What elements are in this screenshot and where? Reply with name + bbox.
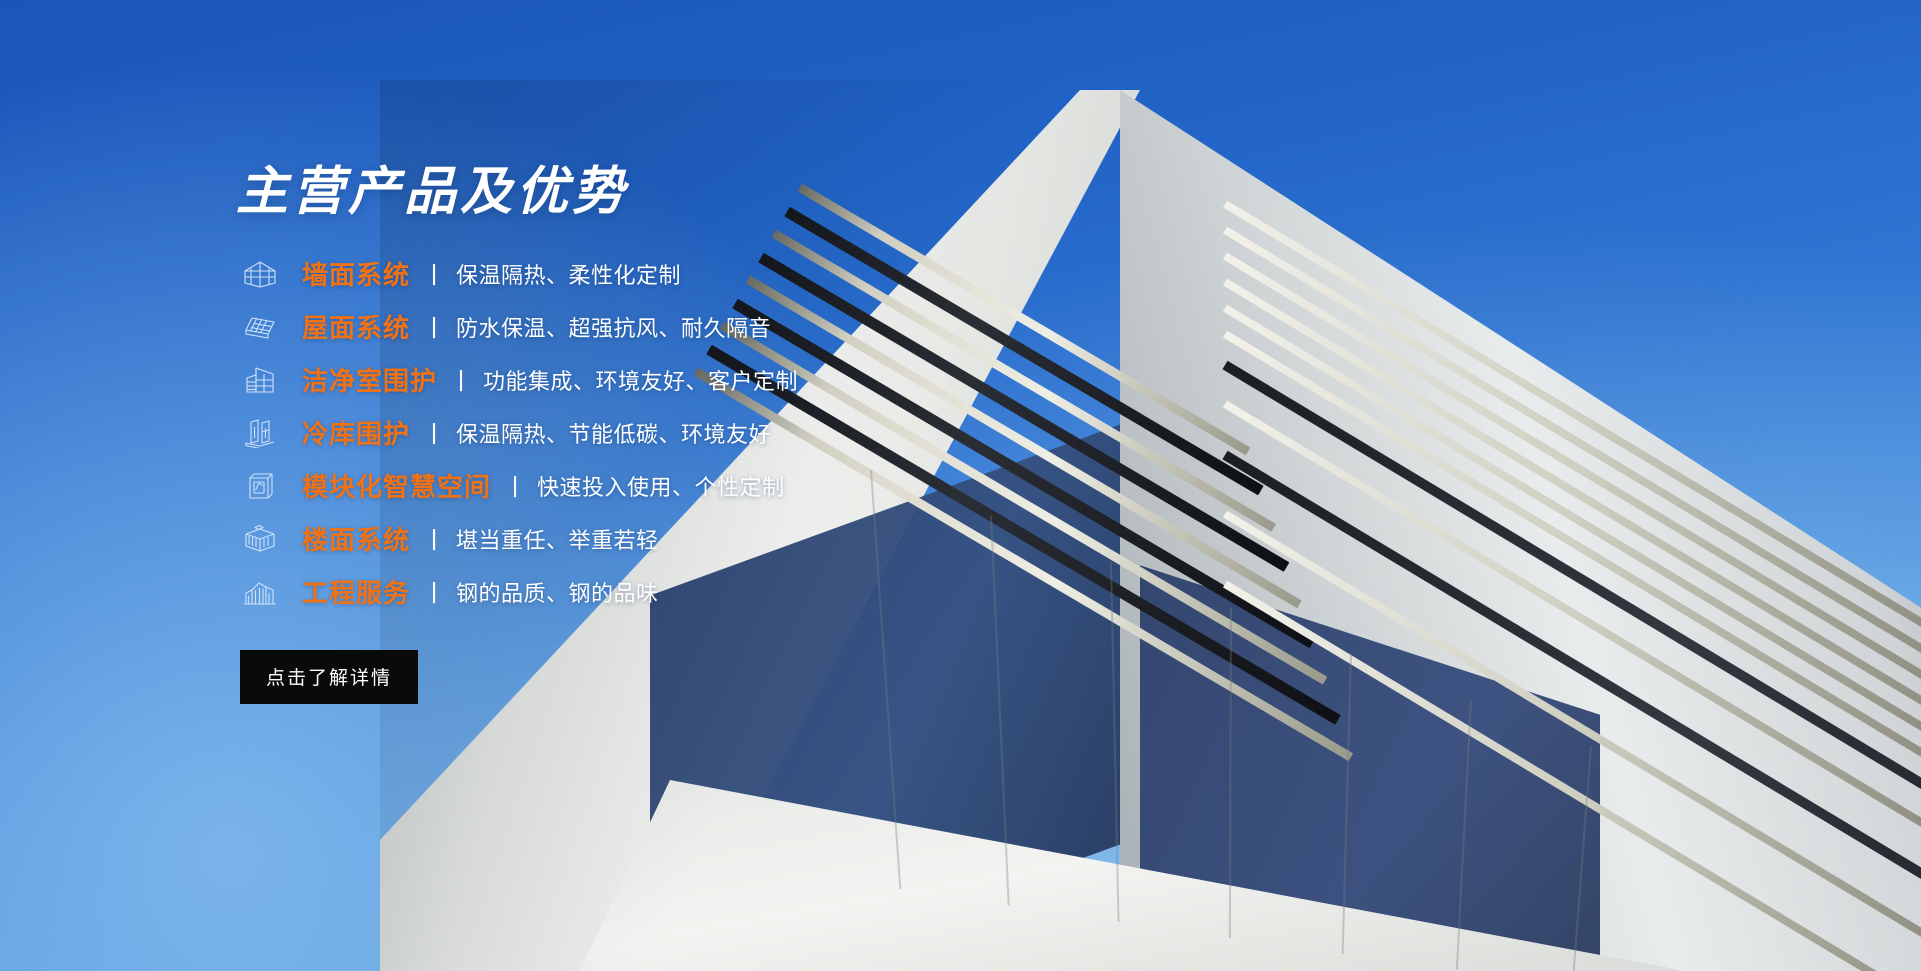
- product-row[interactable]: 模块化智慧空间丨快速投入使用、个性定制: [240, 459, 1016, 512]
- building-right-facade: [1080, 80, 1921, 971]
- product-description: 保温隔热、柔性化定制: [456, 258, 681, 290]
- modular-space-icon: [240, 469, 280, 503]
- product-description: 保温隔热、节能低碳、环境友好: [456, 417, 771, 449]
- product-name: 楼面系统: [302, 520, 410, 557]
- product-name: 冷库围护: [302, 414, 410, 451]
- coldstorage-icon: [240, 416, 280, 450]
- product-row[interactable]: 楼面系统丨堪当重任、举重若轻: [240, 512, 1016, 565]
- page-title: 主营产品及优势: [236, 164, 1016, 221]
- floor-system-icon: [240, 522, 280, 556]
- row-separator: 丨: [425, 258, 443, 290]
- cleanroom-icon: [240, 363, 280, 397]
- roof-system-icon: [240, 310, 280, 344]
- product-name: 屋面系统: [302, 308, 410, 345]
- row-separator: 丨: [425, 523, 443, 555]
- product-description: 功能集成、环境友好、客户定制: [483, 364, 798, 396]
- building-base-plinth: [580, 780, 1680, 971]
- product-list: 墙面系统丨保温隔热、柔性化定制屋面系统丨防水保温、超强抗风、耐久隔音洁净室围护丨…: [240, 247, 1016, 618]
- product-advantages-banner: 主营产品及优势 墙面系统丨保温隔热、柔性化定制屋面系统丨防水保温、超强抗风、耐久…: [0, 0, 1921, 971]
- row-separator: 丨: [452, 364, 470, 396]
- product-description: 快速投入使用、个性定制: [537, 470, 785, 502]
- product-description: 防水保温、超强抗风、耐久隔音: [456, 311, 771, 343]
- row-separator: 丨: [425, 417, 443, 449]
- product-row[interactable]: 冷库围护丨保温隔热、节能低碳、环境友好: [240, 406, 1016, 459]
- product-row[interactable]: 工程服务丨钢的品质、钢的品味: [240, 565, 1016, 618]
- building-ridge-stripes: [1225, 200, 1921, 971]
- product-name: 模块化智慧空间: [302, 467, 491, 504]
- product-name: 洁净室围护: [302, 361, 437, 398]
- learn-more-button[interactable]: 点击了解详情: [240, 650, 418, 704]
- product-description: 钢的品质、钢的品味: [456, 576, 659, 608]
- wall-system-icon: [240, 257, 280, 291]
- engineering-icon: [240, 575, 280, 609]
- row-separator: 丨: [425, 311, 443, 343]
- product-name: 墙面系统: [302, 255, 410, 292]
- row-separator: 丨: [425, 576, 443, 608]
- product-row[interactable]: 墙面系统丨保温隔热、柔性化定制: [240, 247, 1016, 300]
- product-description: 堪当重任、举重若轻: [456, 523, 659, 555]
- product-row[interactable]: 屋面系统丨防水保温、超强抗风、耐久隔音: [240, 300, 1016, 353]
- product-name: 工程服务: [302, 573, 410, 610]
- product-row[interactable]: 洁净室围护丨功能集成、环境友好、客户定制: [240, 353, 1016, 406]
- building-blue-panel-right: [1140, 565, 1600, 971]
- banner-content: 主营产品及优势 墙面系统丨保温隔热、柔性化定制屋面系统丨防水保温、超强抗风、耐久…: [236, 164, 1016, 704]
- row-separator: 丨: [506, 470, 524, 502]
